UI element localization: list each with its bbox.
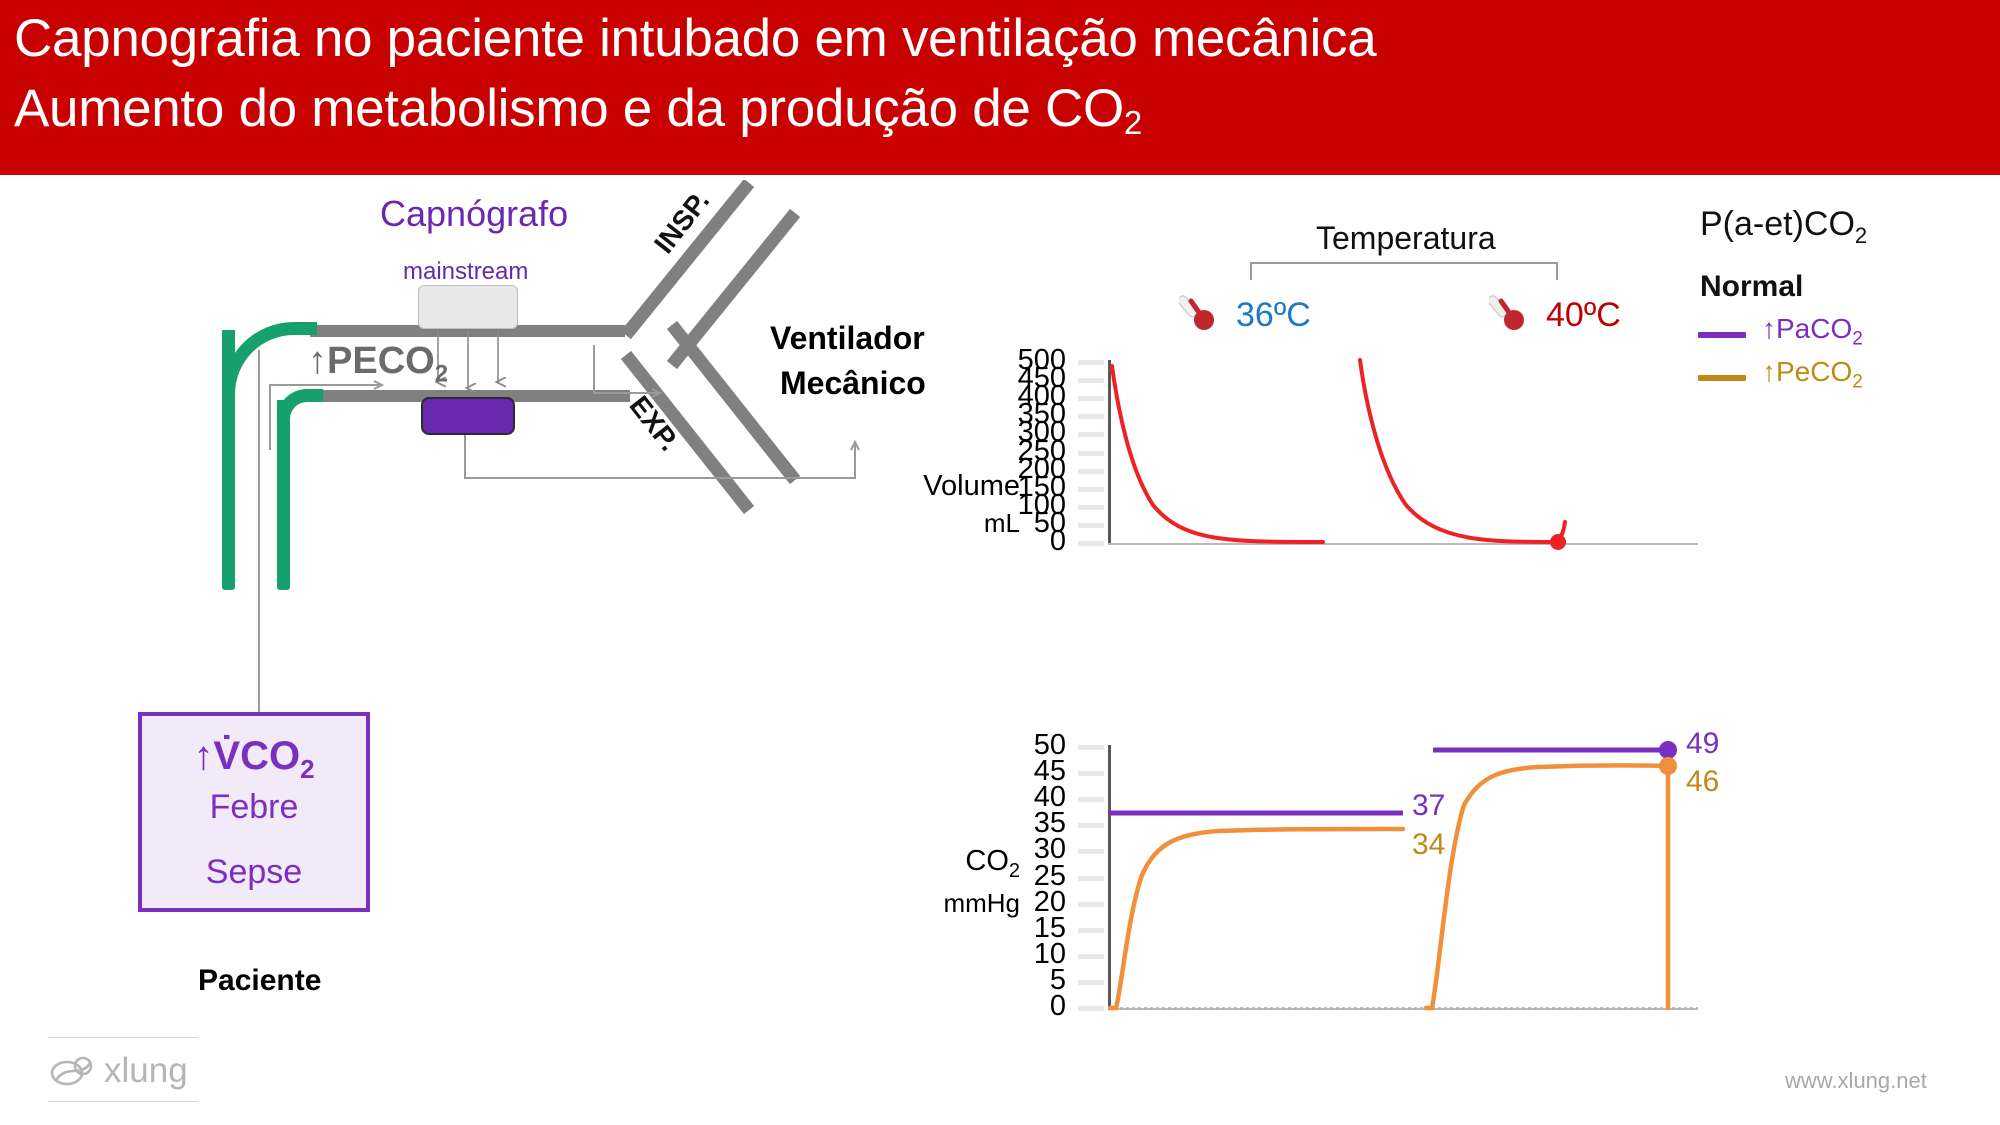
xlung-logo[interactable]: xlung bbox=[30, 1035, 220, 1107]
ventilator-label-line2: Mecânico bbox=[780, 365, 926, 402]
peco2-leader-line bbox=[225, 340, 405, 460]
y-tick-mark bbox=[1078, 487, 1104, 492]
y-tick-mark bbox=[1078, 771, 1104, 776]
peco2-end-marker-40c bbox=[1659, 757, 1677, 775]
legend-swatch-paco2 bbox=[1698, 332, 1746, 338]
capnogram-40c bbox=[1426, 765, 1668, 1008]
legend-paco2-arrow: ↑ bbox=[1762, 313, 1776, 344]
paco2-value-label-40c: 49 bbox=[1686, 727, 1719, 761]
y-tick-mark bbox=[1078, 849, 1104, 854]
y-tick-label: 0 bbox=[980, 525, 1066, 558]
ventilator-label-line1: Ventilador bbox=[770, 320, 925, 357]
slide-title-line1: Capnografia no paciente intubado em vent… bbox=[14, 8, 1376, 69]
thermometer-40-icon bbox=[1489, 288, 1535, 332]
y-tick-label: 0 bbox=[980, 990, 1066, 1023]
peco2-value-label-40c: 46 bbox=[1686, 765, 1719, 799]
paco2-end-marker-40c bbox=[1659, 741, 1677, 759]
capnograph-subtitle: mainstream bbox=[403, 258, 528, 286]
vco2-title-subscript: 2 bbox=[300, 754, 314, 784]
y-tick-mark bbox=[1078, 1006, 1104, 1011]
slide-root: Capnografia no paciente intubado em vent… bbox=[0, 0, 2000, 1125]
capnograph-title: Capnógrafo bbox=[380, 193, 568, 235]
temperature-right-value: 40ºC bbox=[1546, 296, 1621, 335]
paco2-value-label-36c: 37 bbox=[1412, 789, 1445, 823]
volume-end-marker bbox=[1550, 534, 1566, 550]
patient-label: Paciente bbox=[198, 964, 321, 998]
website-url[interactable]: www.xlung.net bbox=[1785, 1068, 1927, 1094]
sensor-to-ventilator-leader bbox=[455, 430, 865, 490]
slide-title-line2-subscript: 2 bbox=[1124, 104, 1142, 141]
vco2-cause-febre: Febre bbox=[142, 788, 366, 827]
vco2-leader-line bbox=[258, 350, 260, 712]
slide-title-line2: Aumento do metabolismo e da produção de … bbox=[14, 78, 1142, 142]
legend-peco2-text: PeCO bbox=[1776, 356, 1852, 387]
volume-curve-36c bbox=[1112, 366, 1323, 542]
capnograph-sensor-window bbox=[418, 285, 518, 329]
slide-title-line2-text: Aumento do metabolismo e da produção de … bbox=[14, 79, 1124, 138]
y-tick-mark bbox=[1078, 928, 1104, 933]
xlung-mark-icon bbox=[50, 1053, 96, 1089]
temperature-title: Temperatura bbox=[1316, 220, 1496, 257]
vco2-increase-box: ↑V̇CO2 Febre Sepse bbox=[138, 712, 370, 912]
y-tick-mark bbox=[1078, 797, 1104, 802]
xlung-logo-text: xlung bbox=[104, 1051, 188, 1091]
legend-paco2-subscript: 2 bbox=[1852, 329, 1863, 350]
legend-title-subscript: 2 bbox=[1855, 223, 1867, 248]
legend-paco2-text: PaCO bbox=[1776, 313, 1852, 344]
legend-title-text: P(a-et)CO bbox=[1700, 205, 1855, 243]
legend-item-peco2: ↑PeCO2 bbox=[1762, 356, 1863, 394]
temperature-left-value: 36ºC bbox=[1236, 296, 1311, 335]
volume-chart: Volume mL 500450400350300250200150100500 bbox=[920, 350, 1720, 680]
y-tick-mark bbox=[1078, 523, 1104, 528]
y-tick-mark bbox=[1078, 980, 1104, 985]
slide-header-banner: Capnografia no paciente intubado em vent… bbox=[0, 0, 2000, 175]
y-tick-mark bbox=[1078, 396, 1104, 401]
y-tick-mark bbox=[1078, 451, 1104, 456]
y-tick-mark bbox=[1078, 823, 1104, 828]
vco2-title: ↑V̇CO2 bbox=[142, 734, 366, 785]
capnogram-36c bbox=[1108, 829, 1403, 1008]
y-tick-mark bbox=[1078, 378, 1104, 383]
co2-chart: CO2 mmHg 50454035302520151050 37 34 49 4… bbox=[920, 735, 1720, 1065]
y-tick-mark bbox=[1078, 954, 1104, 959]
y-tick-mark bbox=[1078, 360, 1104, 365]
legend-title: P(a-et)CO2 bbox=[1700, 205, 1867, 249]
legend-item-paco2: ↑PaCO2 bbox=[1762, 313, 1863, 351]
legend-peco2-subscript: 2 bbox=[1852, 372, 1863, 393]
volume-curves bbox=[1108, 350, 1708, 550]
y-tick-mark bbox=[1078, 414, 1104, 419]
temperature-bracket bbox=[1250, 262, 1558, 280]
y-tick-mark bbox=[1078, 505, 1104, 510]
legend-status-normal: Normal bbox=[1700, 270, 1803, 304]
volume-curve-40c bbox=[1360, 360, 1558, 542]
vco2-cause-sepse: Sepse bbox=[142, 853, 366, 892]
legend-peco2-arrow: ↑ bbox=[1762, 356, 1776, 387]
peco2-value-label-36c: 34 bbox=[1412, 828, 1445, 862]
thermometer-36-icon bbox=[1179, 288, 1225, 332]
y-tick-mark bbox=[1078, 432, 1104, 437]
y-tick-mark bbox=[1078, 876, 1104, 881]
y-tick-mark bbox=[1078, 469, 1104, 474]
co2-curves bbox=[1108, 735, 1728, 1020]
vco2-up-arrow: ↑ bbox=[193, 734, 213, 778]
y-tick-mark bbox=[1078, 541, 1104, 546]
vco2-title-text: V̇CO bbox=[213, 734, 300, 778]
peco2-label-subscript: 2 bbox=[435, 361, 448, 388]
ypiece-leader-line bbox=[590, 345, 670, 405]
y-tick-mark bbox=[1078, 745, 1104, 750]
y-tick-mark bbox=[1078, 902, 1104, 907]
